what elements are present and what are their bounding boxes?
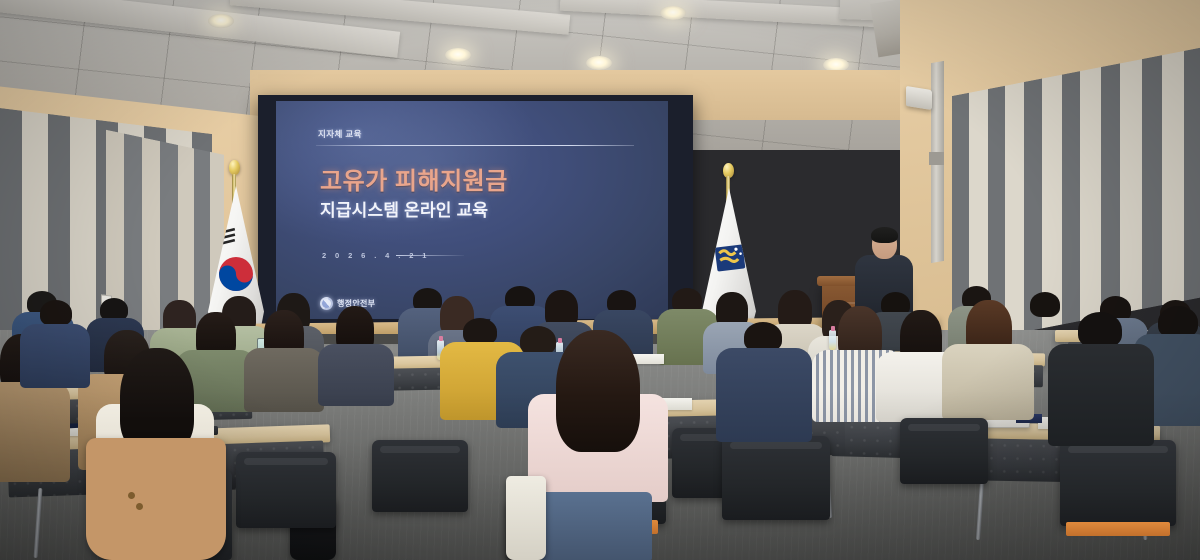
chair [372,440,468,512]
attendee-body [1048,344,1154,446]
jacket-button [136,503,143,510]
attendee-hair [556,330,640,452]
attendee-body [716,348,812,442]
ceiling-downlight [586,56,612,70]
wall-junction-box [929,152,944,165]
projection-screen: 지자체 교육 고유가 피해지원금 지급시스템 온라인 교육 2 0 2 6 . … [276,101,668,319]
ceiling-downlight [660,6,686,20]
seminar-room-photo: 지자체 교육 고유가 피해지원금 지급시스템 온라인 교육 2 0 2 6 . … [0,0,1200,560]
jacket-button [128,492,135,499]
presenter-hair [871,227,898,243]
chair [236,452,336,528]
tote-bag [506,476,546,560]
taegeuk-icon [320,297,333,310]
attendee-body [942,344,1034,420]
slide-date-rule [396,255,464,256]
draped-jacket [86,438,226,560]
attendee-jeans [540,492,652,560]
slide-subtitle: 지급시스템 온라인 교육 [320,196,488,221]
slide-kicker: 지자체 교육 [318,128,362,140]
chair [1060,440,1176,526]
attendee-hair [40,300,72,326]
chair [722,436,830,520]
chair [900,418,988,484]
attendee-hair [1078,312,1122,348]
flag-finial-icon [229,160,240,175]
ceiling-downlight [445,48,471,62]
attendee-body [318,344,394,406]
chair-seat [1066,522,1170,536]
attendee-body [0,382,70,482]
ceiling-downlight [208,14,234,28]
slide-divider-rule [316,145,634,146]
attendee-body [20,324,90,388]
attendee-hair [120,348,194,452]
attendee-hair [520,326,556,355]
pa-speaker-icon [906,86,932,110]
slide-title: 고유가 피해지원금 [320,161,508,196]
attendee-hair [463,318,497,345]
water-bottle [829,330,836,350]
attendee-body [244,348,324,412]
